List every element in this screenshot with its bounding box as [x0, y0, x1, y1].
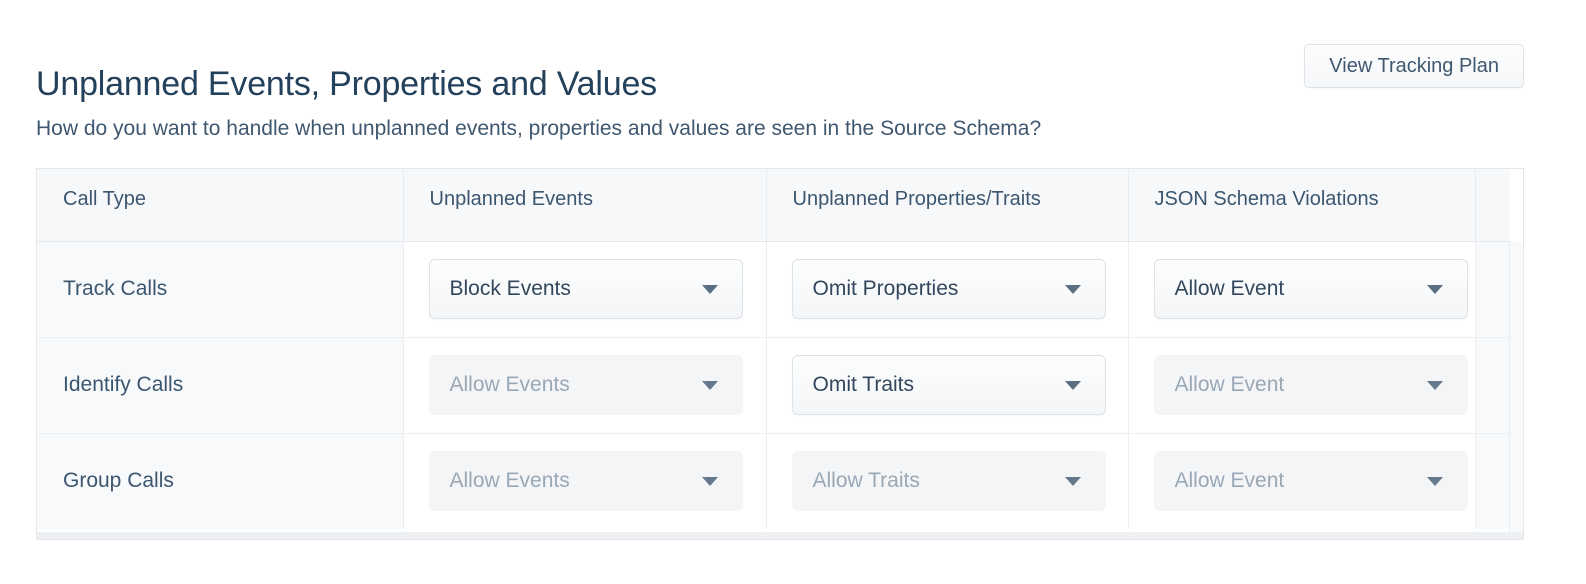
table-header-row: Call Type Unplanned Events Unplanned Pro…: [37, 169, 1510, 241]
column-header-json-schema-violations: JSON Schema Violations: [1128, 169, 1475, 241]
cell-spacer: [1475, 241, 1510, 337]
select-unplanned-events-track[interactable]: Block Events: [429, 259, 743, 319]
select-value: Allow Events: [430, 373, 702, 397]
column-header-call-type: Call Type: [37, 169, 403, 241]
cell-unplanned-properties: Allow Traits: [766, 433, 1128, 529]
select-value: Allow Event: [1155, 277, 1427, 301]
select-unplanned-properties-track[interactable]: Omit Properties: [792, 259, 1106, 319]
chevron-down-icon: [1065, 381, 1081, 390]
select-json-violations-group: Allow Event: [1154, 451, 1468, 511]
schema-settings-table: Call Type Unplanned Events Unplanned Pro…: [37, 169, 1510, 529]
column-header-unplanned-properties: Unplanned Properties/Traits: [766, 169, 1128, 241]
select-value: Allow Events: [430, 469, 702, 493]
table-row: Track Calls Block Events Omit Properties: [37, 241, 1510, 337]
chevron-down-icon: [702, 285, 718, 294]
table-header: Call Type Unplanned Events Unplanned Pro…: [37, 169, 1510, 241]
select-value: Block Events: [430, 277, 702, 301]
chevron-down-icon: [1065, 477, 1081, 486]
unplanned-events-settings-page: Unplanned Events, Properties and Values …: [0, 0, 1586, 584]
select-value: Allow Traits: [793, 469, 1065, 493]
cell-spacer: [1475, 433, 1510, 529]
cell-call-type: Identify Calls: [37, 337, 403, 433]
table-body: Track Calls Block Events Omit Properties: [37, 241, 1510, 529]
cell-unplanned-events: Allow Events: [403, 337, 766, 433]
page-title: Unplanned Events, Properties and Values: [36, 63, 657, 105]
select-value: Omit Properties: [793, 277, 1065, 301]
select-unplanned-events-group: Allow Events: [429, 451, 743, 511]
cell-json-violations: Allow Event: [1128, 337, 1475, 433]
table-horizontal-scrollbar[interactable]: [36, 532, 1524, 540]
chevron-down-icon: [702, 381, 718, 390]
table-row: Group Calls Allow Events Allow Traits: [37, 433, 1510, 529]
select-value: Omit Traits: [793, 373, 1065, 397]
cell-call-type: Group Calls: [37, 433, 403, 529]
select-value: Allow Event: [1155, 469, 1427, 493]
chevron-down-icon: [1065, 285, 1081, 294]
select-unplanned-properties-group: Allow Traits: [792, 451, 1106, 511]
page-header: Unplanned Events, Properties and Values …: [36, 0, 1550, 104]
table-vertical-scrollbar[interactable]: [1509, 242, 1523, 532]
cell-unplanned-events: Allow Events: [403, 433, 766, 529]
select-json-violations-track[interactable]: Allow Event: [1154, 259, 1468, 319]
cell-spacer: [1475, 337, 1510, 433]
chevron-down-icon: [1427, 285, 1443, 294]
cell-unplanned-properties: Omit Properties: [766, 241, 1128, 337]
view-tracking-plan-button[interactable]: View Tracking Plan: [1304, 44, 1524, 88]
cell-unplanned-events: Block Events: [403, 241, 766, 337]
cell-call-type: Track Calls: [37, 241, 403, 337]
schema-settings-table-container: Call Type Unplanned Events Unplanned Pro…: [36, 168, 1524, 532]
chevron-down-icon: [702, 477, 718, 486]
chevron-down-icon: [1427, 477, 1443, 486]
cell-json-violations: Allow Event: [1128, 433, 1475, 529]
cell-unplanned-properties: Omit Traits: [766, 337, 1128, 433]
select-value: Allow Event: [1155, 373, 1427, 397]
page-subtitle: How do you want to handle when unplanned…: [36, 116, 1550, 142]
column-header-spacer: [1475, 169, 1510, 241]
cell-json-violations: Allow Event: [1128, 241, 1475, 337]
column-header-unplanned-events: Unplanned Events: [403, 169, 766, 241]
table-row: Identify Calls Allow Events Omit Traits: [37, 337, 1510, 433]
chevron-down-icon: [1427, 381, 1443, 390]
select-unplanned-properties-identify[interactable]: Omit Traits: [792, 355, 1106, 415]
select-unplanned-events-identify: Allow Events: [429, 355, 743, 415]
select-json-violations-identify: Allow Event: [1154, 355, 1468, 415]
